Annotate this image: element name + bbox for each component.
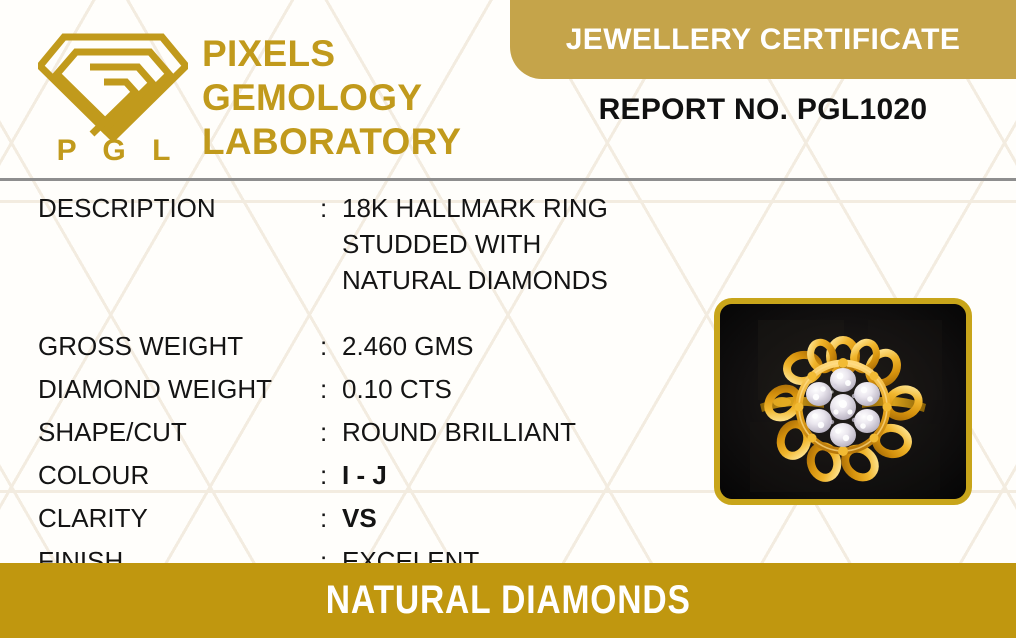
logo-wordmark-line-1: PIXELS xyxy=(202,32,461,76)
spec-value: VS xyxy=(342,500,377,536)
spec-colon: : xyxy=(320,457,342,493)
spec-colon-description: : xyxy=(320,190,342,226)
spec-label: CLARITY xyxy=(38,500,320,536)
specifications-table: DESCRIPTION : 18K HALLMARK RING STUDDED … xyxy=(38,190,678,586)
logo-initials: P G L xyxy=(48,134,188,168)
spec-rows-list: GROSS WEIGHT:2.460 GMSDIAMOND WEIGHT:0.1… xyxy=(38,328,678,579)
spec-row: GROSS WEIGHT:2.460 GMS xyxy=(38,328,678,364)
spec-colon: : xyxy=(320,414,342,450)
spec-row: SHAPE/CUT:ROUND BRILLIANT xyxy=(38,414,678,450)
spec-label: COLOUR xyxy=(38,457,320,493)
laboratory-logo: P G L PIXELS GEMOLOGY LABORATORY xyxy=(38,14,498,169)
footer-bar: NATURAL DIAMONDS xyxy=(0,563,1016,638)
logo-wordmark-line-3: LABORATORY xyxy=(202,120,461,164)
spec-value: 0.10 CTS xyxy=(342,371,452,407)
report-number: REPORT NO. PGL1020 xyxy=(510,93,1016,127)
spec-colon: : xyxy=(320,328,342,364)
ring-photograph xyxy=(714,298,972,505)
footer-title: NATURAL DIAMONDS xyxy=(326,578,691,623)
spec-value: I - J xyxy=(342,457,387,493)
certificate-page: P G L PIXELS GEMOLOGY LABORATORY JEWELLE… xyxy=(0,0,1016,638)
spec-label-description: DESCRIPTION xyxy=(38,190,320,226)
spec-label: DIAMOND WEIGHT xyxy=(38,371,320,407)
banner-title: JEWELLERY CERTIFICATE xyxy=(566,23,961,57)
spec-value: ROUND BRILLIANT xyxy=(342,414,576,450)
certificate-header: P G L PIXELS GEMOLOGY LABORATORY JEWELLE… xyxy=(0,0,1016,179)
spec-row: DIAMOND WEIGHT:0.10 CTS xyxy=(38,371,678,407)
spec-colon: : xyxy=(320,371,342,407)
spec-value: 2.460 GMS xyxy=(342,328,474,364)
header-divider xyxy=(0,178,1016,181)
spec-colon: : xyxy=(320,500,342,536)
spec-row: COLOUR:I - J xyxy=(38,457,678,493)
ring-photograph-image xyxy=(720,304,966,499)
spec-row-description: DESCRIPTION : 18K HALLMARK RING STUDDED … xyxy=(38,190,678,298)
logo-wordmark-line-2: GEMOLOGY xyxy=(202,76,461,120)
jewellery-certificate-banner: JEWELLERY CERTIFICATE xyxy=(510,0,1016,79)
spec-value-description: 18K HALLMARK RING STUDDED WITH NATURAL D… xyxy=(342,190,678,298)
spec-label: SHAPE/CUT xyxy=(38,414,320,450)
spec-row: CLARITY:VS xyxy=(38,500,678,536)
logo-wordmark: PIXELS GEMOLOGY LABORATORY xyxy=(202,32,461,164)
spec-label: GROSS WEIGHT xyxy=(38,328,320,364)
